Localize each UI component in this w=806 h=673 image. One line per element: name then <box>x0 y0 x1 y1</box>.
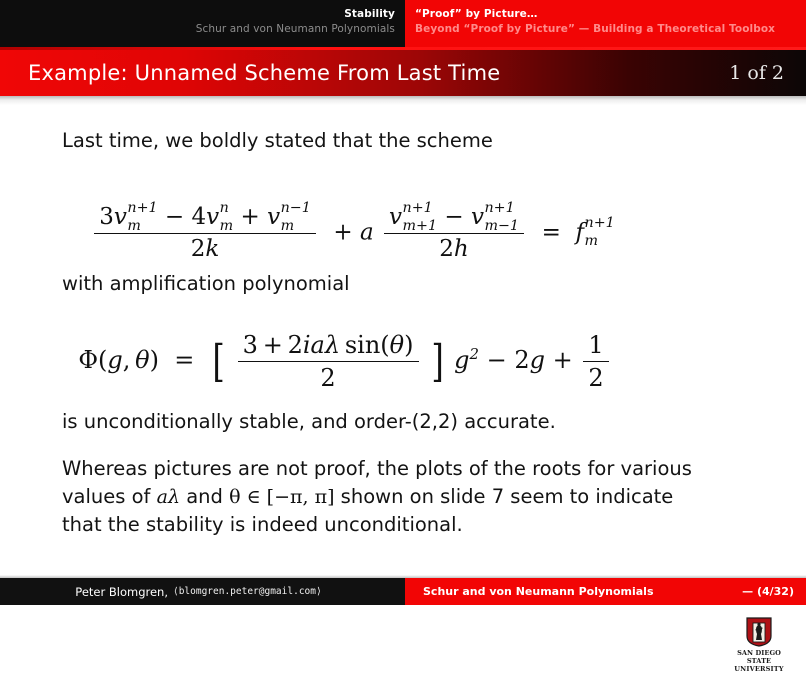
paragraph-pictures-prefix: values of <box>62 485 157 508</box>
header-section-right[interactable]: “Proof” by Picture… Beyond “Proof by Pic… <box>405 0 806 50</box>
sdsu-caption-line-2: UNIVERSITY <box>728 665 790 673</box>
sdsu-logo: SAN DIEGO STATE UNIVERSITY <box>728 617 790 673</box>
footer-page-number: — (4/32) <box>742 585 794 598</box>
footer-section-title: Schur and von Neumann Polynomials <box>423 585 654 598</box>
header-right-inactive-label[interactable]: Beyond “Proof by Picture” — Building a T… <box>415 22 775 37</box>
header-section-left[interactable]: Stability Schur and von Neumann Polynomi… <box>0 0 405 50</box>
equation-scheme-fraction-1: 3vn+1m − 4vnm + vn−1m 2k <box>94 203 315 264</box>
title-bar-shadow <box>0 96 806 105</box>
page-title: Example: Unnamed Scheme From Last Time <box>28 61 500 85</box>
footer-author-block: Peter Blomgren, ⟨blomgren.peter@gmail.co… <box>0 578 405 605</box>
equation-scheme-fraction-2: vn+1m+1 − vn+1m−1 2h <box>384 203 524 264</box>
slide-footer: Peter Blomgren, ⟨blomgren.peter@gmail.co… <box>0 578 806 605</box>
inline-math-alambda: aλ <box>157 486 180 508</box>
slide-title-bar: Example: Unnamed Scheme From Last Time 1… <box>0 50 806 96</box>
paragraph-amplification: with amplification polynomial <box>62 270 350 298</box>
footer-author-email[interactable]: ⟨blomgren.peter@gmail.com⟩ <box>173 586 322 597</box>
equation-scheme: 3vn+1m − 4vnm + vn−1m 2k + a vn+1m+1 − v… <box>0 203 806 264</box>
paragraph-pictures-midfix: and <box>180 485 229 508</box>
paragraph-stability-claim: is unconditionally stable, and order-(2,… <box>62 408 556 436</box>
paragraph-pictures-line-3: that the stability is indeed uncondition… <box>62 511 463 539</box>
equation-amplification-polynomial: Φ(g, θ) = [ 3 + 2iaλ sin(θ) 2 ] g2 − 2g … <box>0 330 806 393</box>
header-left-active-label[interactable]: Stability <box>344 7 395 22</box>
sdsu-caption-line-1: SAN DIEGO STATE <box>728 649 790 665</box>
header-right-active-label[interactable]: “Proof” by Picture… <box>415 7 538 22</box>
slide-counter: 1 of 2 <box>729 62 784 84</box>
slide-header: Stability Schur and von Neumann Polynomi… <box>0 0 806 50</box>
inline-math-theta-range: θ ∈ [−π, π] <box>229 486 334 508</box>
paragraph-pictures-line-2: values of aλ and θ ∈ [−π, π] shown on sl… <box>62 483 673 511</box>
footer-author-name: Peter Blomgren, <box>75 585 168 599</box>
slide-content: Last time, we boldly stated that the sch… <box>0 105 806 578</box>
header-left-inactive-label[interactable]: Schur and von Neumann Polynomials <box>196 22 395 37</box>
paragraph-intro: Last time, we boldly stated that the sch… <box>62 127 493 155</box>
footer-section-block: Schur and von Neumann Polynomials — (4/3… <box>405 578 806 605</box>
paragraph-pictures-line-1: Whereas pictures are not proof, the plot… <box>62 455 692 483</box>
sdsu-logo-caption: SAN DIEGO STATE UNIVERSITY <box>728 649 790 673</box>
sdsu-crest-icon <box>746 617 772 647</box>
equation-amplification-fraction: 3 + 2iaλ sin(θ) 2 <box>238 330 419 393</box>
paragraph-pictures-suffix: shown on slide 7 seem to indicate <box>334 485 673 508</box>
equation-half-fraction: 1 2 <box>583 330 608 393</box>
